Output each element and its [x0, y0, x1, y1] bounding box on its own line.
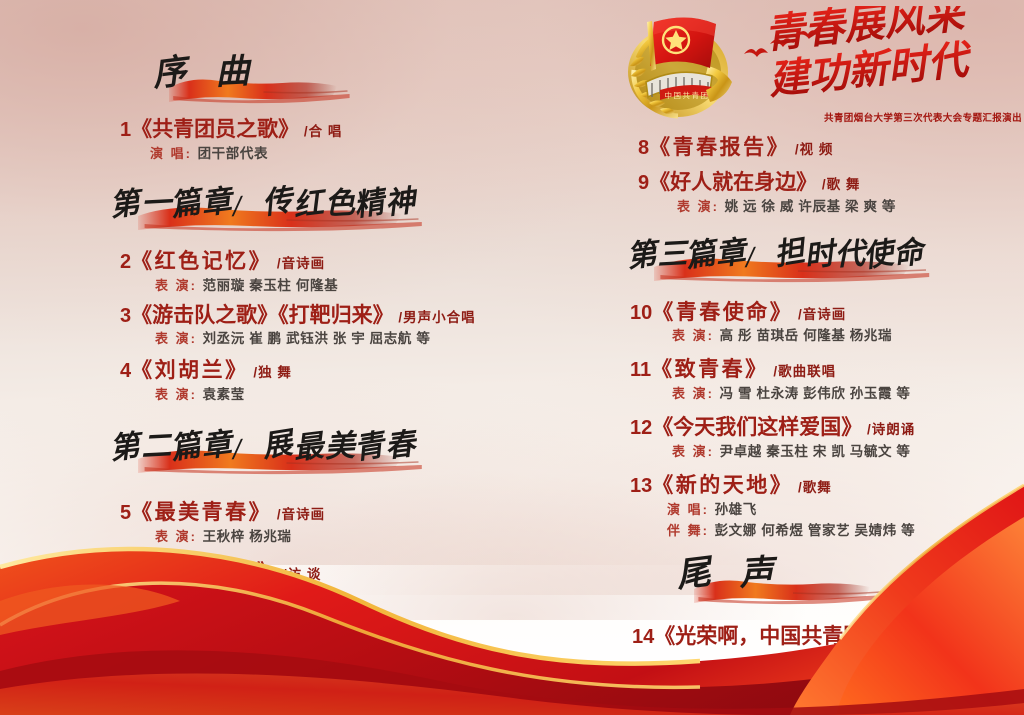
program-item-title: 《共青团员之歌》 — [131, 118, 299, 141]
program-item-genre: /歌曲联唱 — [769, 364, 837, 379]
program-item-genre: /独 舞 — [249, 365, 292, 380]
svg-text:春: 春 — [383, 427, 421, 464]
header-logo-block: 中国共青团 — [612, 2, 1024, 134]
program-item-title: 《游击队之歌》《打靶归来》 — [131, 304, 394, 327]
chapter-title-text: 第三篇章/担时代使命 — [622, 229, 942, 277]
program-item-credit-row: 演 唱: 团干部代表 — [0, 144, 512, 164]
program-item: 9《好人就在身边》 /歌 舞表 演: 姚 远 徐 威 许辰基 梁 爽 等 — [512, 171, 1024, 217]
credit-performer-names: 范丽璇 秦玉柱 何隆基 — [203, 278, 339, 293]
credit-role-label: 表 演: — [155, 331, 203, 346]
header-title-calligraphy: 青春展风采 建功新时代 — [764, 6, 1020, 106]
credit-performer-names: 团干部代表 — [198, 146, 269, 161]
program-item-number: 3 — [120, 305, 131, 327]
credit-role-label: 演 唱: — [155, 625, 203, 640]
program-item: 8《青春报告》 /视 频 — [512, 136, 1024, 161]
credit-performer-names: 冯 雪 杜永涛 彭伟欣 孙玉霞 等 — [720, 386, 911, 401]
program-item: 6《榜样的力量》 /访 谈 — [0, 561, 512, 586]
credit-performer-names: 刘丞沅 崔 鹏 武钰洪 张 宇 屈志航 等 — [203, 331, 431, 346]
program-item-number: 7 — [120, 599, 131, 621]
svg-text:/: / — [230, 189, 245, 223]
program-item-number: 6 — [120, 562, 131, 584]
credit-role-label: 表 演: — [677, 199, 725, 214]
program-item: 3《游击队之歌》《打靶归来》 /男声小合唱表 演: 刘丞沅 崔 鹏 武钰洪 张 … — [0, 304, 512, 350]
program-item-number: 5 — [120, 502, 131, 524]
program-item: 13《新的天地》 /歌舞演 唱: 孙雄飞伴 舞: 彭文娜 何希煜 管家艺 吴婧炜… — [512, 474, 1024, 541]
chapter-title-text: 第一篇章/传红色精神 — [105, 178, 435, 226]
program-item-number: 2 — [120, 251, 131, 273]
program-item-number: 10 — [630, 302, 652, 324]
program-item-title-row: 12《今天我们这样爱国》 /诗朗诵 — [512, 416, 1024, 441]
svg-text:神: 神 — [383, 184, 421, 221]
communist-youth-league-emblem-icon: 中国共青团 — [616, 8, 738, 120]
svg-text:命: 命 — [891, 233, 930, 271]
credit-performer-names: 王秋梓 杨兆瑞 — [203, 529, 292, 544]
header-subtitle: 共青团烟台大学第三次代表大会专题汇报演出 — [782, 110, 1022, 124]
program-item: 7《少年中国说》 /歌 曲演 唱: 苏跃华 — [0, 598, 512, 644]
program-item-title-row: 5《最美青春》 /音诗画 — [0, 501, 512, 526]
program-item-title-row: 1《共青团员之歌》 /合 唱 — [0, 118, 512, 143]
program-item-credit-row: 表 演: 袁素莹 — [0, 385, 512, 405]
credit-role-label: 表 演: — [155, 278, 203, 293]
credit-role-label: 演 唱: — [667, 502, 715, 517]
program-item-genre: /合 唱 — [885, 631, 928, 646]
credit-performer-names: 尹卓越 秦玉柱 宋 凯 马毓文 等 — [720, 444, 911, 459]
credit-performer-names: 孙雄飞 — [715, 502, 757, 517]
chapter-heading: 第二篇章/展最美青春 — [0, 421, 512, 479]
program-item-credit-row: 表 演: 冯 雪 杜永涛 彭伟欣 孙玉霞 等 — [512, 384, 1024, 404]
program-item-title: 《青春使命》 — [652, 301, 793, 324]
credit-performer-names: 袁素莹 — [203, 387, 245, 402]
program-item-title: 《榜样的力量》 — [131, 561, 278, 584]
program-item-genre: /诗朗诵 — [862, 422, 915, 437]
program-item-title: 《新的天地》 — [652, 474, 793, 497]
program-item-title: 《今天我们这样爱国》 — [652, 416, 862, 439]
credit-performer-names: 高 彤 苗琪岳 何隆基 杨兆瑞 — [720, 328, 893, 343]
program-item-genre: /歌舞 — [793, 480, 832, 495]
program-item-credit-row: 表 演: 尹卓越 秦玉柱 宋 凯 马毓文 等 — [512, 442, 1024, 462]
program-item-genre: /合 唱 — [299, 124, 342, 139]
credit-role-label: 表 演: — [672, 386, 720, 401]
program-item-title-row: 8《青春报告》 /视 频 — [512, 136, 1024, 161]
chapter-heading: 第一篇章/传红色精神 — [0, 178, 512, 236]
credit-role-label: 表 演: — [672, 328, 720, 343]
program-item-genre: /音诗画 — [793, 307, 846, 322]
program-item: 10《青春使命》 /音诗画表 演: 高 彤 苗琪岳 何隆基 杨兆瑞 — [512, 301, 1024, 347]
program-item-genre: /男声小合唱 — [394, 310, 476, 325]
program-item-number: 4 — [120, 360, 131, 382]
program-item-credit-row: 表 演: 王秋梓 杨兆瑞 — [0, 527, 512, 547]
program-item-credit-row: 演 唱: 孙雄飞 — [512, 500, 1024, 520]
credit-performer-names: 姚 远 徐 威 许辰基 梁 爽 等 — [725, 199, 896, 214]
program-item-title-row: 14《光荣啊，中国共青团》 /合 唱 — [512, 625, 1024, 650]
program-item-title-row: 10《青春使命》 /音诗画 — [512, 301, 1024, 326]
program-item: 4《刘胡兰》 /独 舞表 演: 袁素莹 — [0, 359, 512, 405]
chapter-heading: 第三篇章/担时代使命 — [512, 229, 1024, 287]
program-column-right: 8《青春报告》 /视 频9《好人就在身边》 /歌 舞表 演: 姚 远 徐 威 许… — [512, 136, 1024, 649]
program-item-title: 《刘胡兰》 — [131, 359, 249, 382]
program-item-number: 13 — [630, 475, 652, 497]
chapter-heading: 尾声 — [512, 551, 1024, 609]
chapter-title-text: 序曲 — [148, 50, 358, 98]
svg-text:/: / — [743, 240, 758, 274]
program-item-number: 1 — [120, 119, 131, 141]
svg-text:声: 声 — [737, 553, 779, 593]
program-item-title-row: 4《刘胡兰》 /独 舞 — [0, 359, 512, 384]
program-item-genre: /歌 曲 — [278, 604, 321, 619]
program-item-title: 《光荣啊，中国共青团》 — [654, 625, 885, 648]
program-item-title-row: 3《游击队之歌》《打靶归来》 /男声小合唱 — [0, 304, 512, 329]
svg-text:/: / — [230, 433, 245, 467]
credit-role-label: 表 演: — [155, 387, 203, 402]
program-item: 11《致青春》 /歌曲联唱表 演: 冯 雪 杜永涛 彭伟欣 孙玉霞 等 — [512, 358, 1024, 404]
credit-performer-names: 苏跃华 — [203, 625, 245, 640]
svg-text:最: 最 — [291, 429, 328, 466]
program-item-credit-row: 表 演: 高 彤 苗琪岳 何隆基 杨兆瑞 — [512, 326, 1024, 346]
chapter-heading: 序曲 — [0, 50, 512, 108]
program-item: 12《今天我们这样爱国》 /诗朗诵表 演: 尹卓越 秦玉柱 宋 凯 马毓文 等 — [512, 416, 1024, 462]
svg-text:序: 序 — [149, 51, 194, 94]
program-item: 2《红色记忆》 /音诗画表 演: 范丽璇 秦玉柱 何隆基 — [0, 250, 512, 296]
program-item-title: 《致青春》 — [651, 358, 769, 381]
svg-text:曲: 曲 — [214, 53, 253, 92]
credit-role-label: 表 演: — [672, 444, 720, 459]
program-item-number: 11 — [630, 359, 651, 381]
program-item-title-row: 9《好人就在身边》 /歌 舞 — [512, 171, 1024, 196]
program-item: 14《光荣啊，中国共青团》 /合 唱 — [512, 625, 1024, 650]
program-item-credit-row: 表 演: 姚 远 徐 威 许辰基 梁 爽 等 — [512, 197, 1024, 217]
program-item-title: 《青春报告》 — [649, 136, 790, 159]
program-item-genre: /歌 舞 — [817, 177, 860, 192]
program-item-credit-row: 演 唱: 苏跃华 — [0, 623, 512, 643]
program-item-genre: /访 谈 — [278, 567, 321, 582]
poster-canvas: 中国共青团 — [0, 0, 1024, 715]
program-column-left: 序曲1《共青团员之歌》 /合 唱演 唱: 团干部代表第一篇章/传红色精神2《红色… — [0, 50, 512, 643]
chapter-title-text: 第二篇章/展最美青春 — [105, 421, 435, 469]
svg-text:尾: 尾 — [673, 553, 716, 594]
program-item-title-row: 2《红色记忆》 /音诗画 — [0, 250, 512, 275]
program-item-number: 14 — [632, 626, 654, 648]
program-item: 1《共青团员之歌》 /合 唱演 唱: 团干部代表 — [0, 118, 512, 164]
program-item: 5《最美青春》 /音诗画表 演: 王秋梓 杨兆瑞 — [0, 501, 512, 547]
program-item-number: 8 — [638, 137, 649, 159]
program-item-title-row: 6《榜样的力量》 /访 谈 — [0, 561, 512, 586]
credit-performer-names: 彭文娜 何希煜 管家艺 吴婧炜 等 — [715, 523, 916, 538]
credit-role-label: 表 演: — [155, 529, 203, 544]
program-item-title-row: 11《致青春》 /歌曲联唱 — [512, 358, 1024, 383]
program-item-title: 《好人就在身边》 — [649, 171, 817, 194]
program-item-genre: /视 频 — [790, 142, 833, 157]
program-item-credit-row: 表 演: 刘丞沅 崔 鹏 武钰洪 张 宇 屈志航 等 — [0, 329, 512, 349]
program-item-title-row: 7《少年中国说》 /歌 曲 — [0, 598, 512, 623]
program-item-number: 12 — [630, 417, 652, 439]
program-item-title: 《最美青春》 — [131, 501, 272, 524]
credit-role-label: 伴 舞: — [667, 523, 715, 538]
svg-text:中国共青团: 中国共青团 — [665, 90, 710, 100]
program-item-credit-row: 表 演: 范丽璇 秦玉柱 何隆基 — [0, 276, 512, 296]
program-item-genre: /音诗画 — [272, 256, 325, 271]
program-item-title-row: 13《新的天地》 /歌舞 — [512, 474, 1024, 499]
credit-role-label: 演 唱: — [150, 146, 198, 161]
program-item-credit-row: 伴 舞: 彭文娜 何希煜 管家艺 吴婧炜 等 — [512, 521, 1024, 541]
program-item-title: 《红色记忆》 — [131, 250, 272, 273]
program-item-title: 《少年中国说》 — [131, 598, 278, 621]
program-item-number: 9 — [638, 172, 649, 194]
chapter-title-text: 尾声 — [672, 551, 892, 599]
program-item-genre: /音诗画 — [272, 507, 325, 522]
